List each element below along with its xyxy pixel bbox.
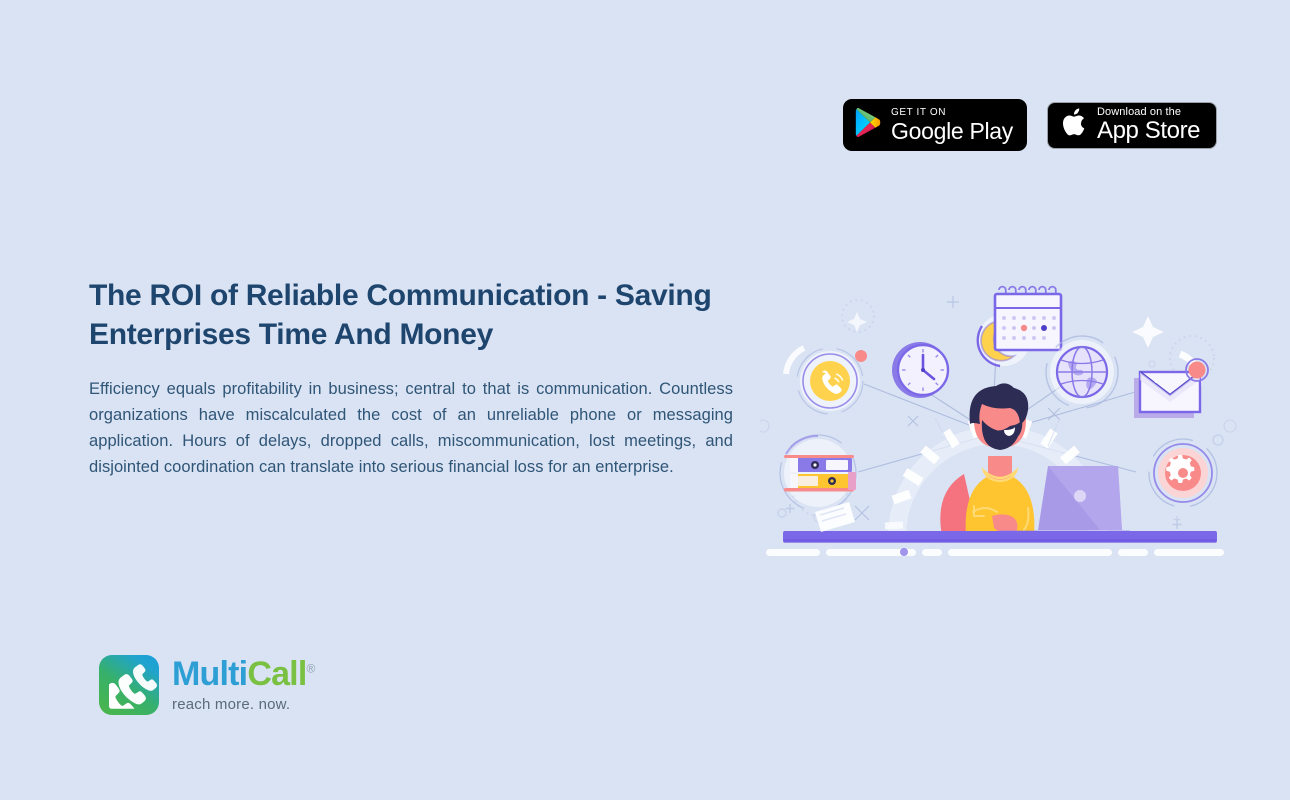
google-play-badge-top-label: GET IT ON <box>891 108 1013 118</box>
google-play-triangle-icon <box>855 108 881 142</box>
article-body: Efficiency equals profitability in busin… <box>89 376 733 480</box>
multicall-logo[interactable]: MultiCall® reach more. now. <box>99 655 315 715</box>
logo-tagline: reach more. now. <box>172 696 315 713</box>
banner-page: GET IT ON Google Play Download on the Ap… <box>0 0 1290 800</box>
hero-illustration <box>760 268 1240 560</box>
app-store-badge-bottom-label: App Store <box>1097 119 1200 143</box>
google-play-badge-bottom-label: Google Play <box>891 120 1013 143</box>
page-title: The ROI of Reliable Communication - Savi… <box>89 276 733 354</box>
apple-logo-icon <box>1061 107 1087 143</box>
store-badges-group: GET IT ON Google Play Download on the Ap… <box>843 99 1217 151</box>
logo-word-call: Call <box>247 655 306 693</box>
multicall-phones-icon <box>99 655 159 715</box>
app-store-badge[interactable]: Download on the App Store <box>1047 102 1217 149</box>
google-play-badge[interactable]: GET IT ON Google Play <box>843 99 1027 151</box>
article-text-column: The ROI of Reliable Communication - Savi… <box>89 276 733 480</box>
logo-wordmark: MultiCall® <box>172 657 315 691</box>
logo-word-multi: Multi <box>172 655 247 693</box>
registered-trademark-icon: ® <box>306 662 314 676</box>
